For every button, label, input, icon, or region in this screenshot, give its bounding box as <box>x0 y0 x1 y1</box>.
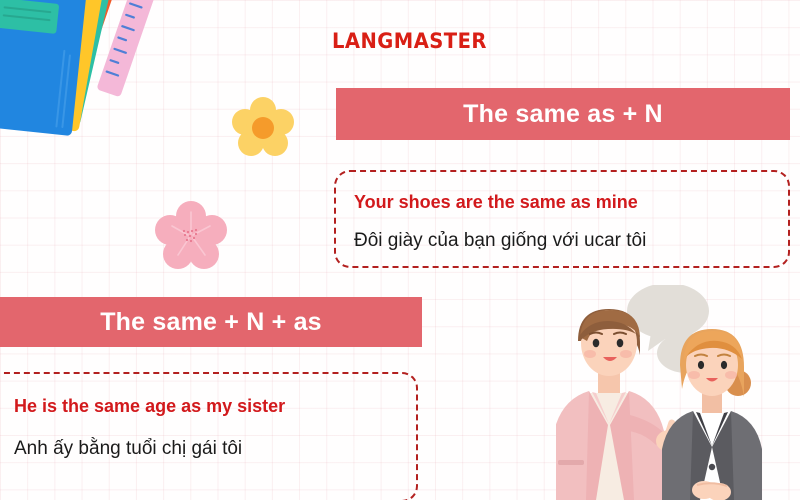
grammar-banner-the-same-n-as: The same + N + as <box>0 297 422 347</box>
langmaster-logo: LANGMASTER <box>332 31 487 52</box>
infographic-canvas: LANGMASTER The same as + N Your shoes ar… <box>0 0 800 500</box>
banner-label: The same + N + as <box>100 308 322 337</box>
pink-blossom-flower-icon <box>155 200 227 277</box>
grammar-banner-the-same-as-n: The same as + N <box>336 88 790 140</box>
two-people-talking-illustration <box>556 285 800 500</box>
yellow-daisy-flower-icon <box>232 96 294 163</box>
banner-label: The same as + N <box>463 100 663 129</box>
example-vietnamese-2: Anh ấy bằng tuổi chị gái tôi <box>14 438 242 460</box>
example-box-2 <box>0 372 418 500</box>
example-english-2: He is the same age as my sister <box>14 396 285 417</box>
stationery-illustration <box>0 0 182 158</box>
example-box-1 <box>334 170 790 268</box>
example-english-1: Your shoes are the same as mine <box>354 192 638 213</box>
example-vietnamese-1: Đôi giày của bạn giống với ucar tôi <box>354 230 646 252</box>
